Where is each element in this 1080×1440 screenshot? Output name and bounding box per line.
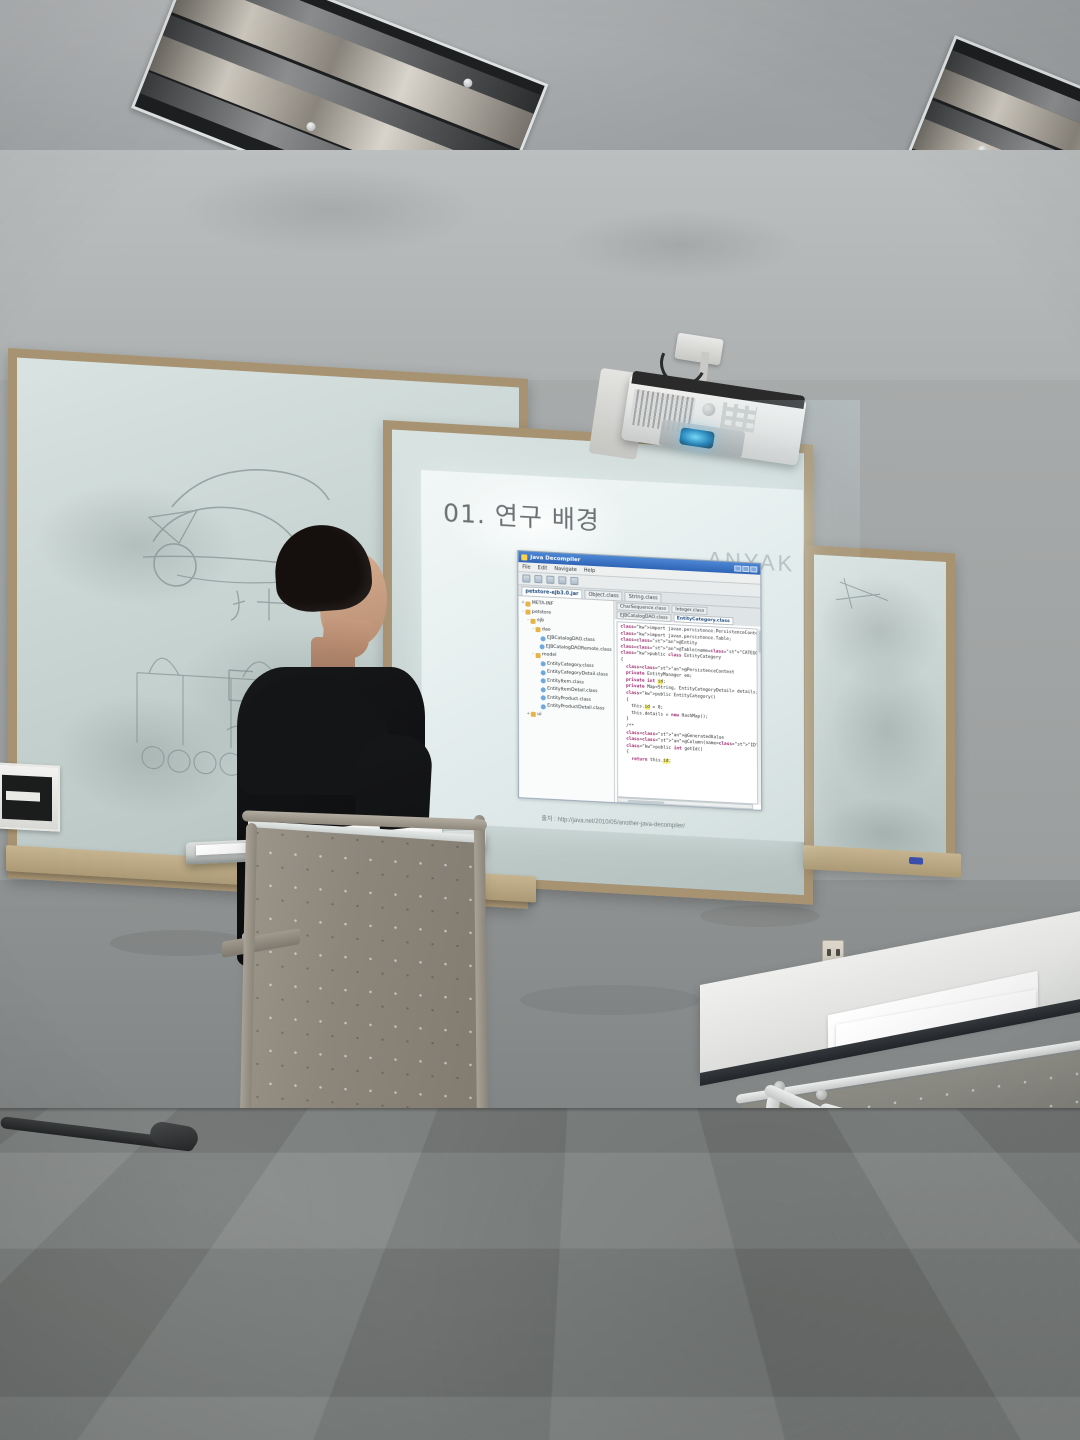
window-body: +META-INF-petstore-ejb-daoEJBCatalogDAO.…: [518, 596, 761, 810]
upper-wall-band: [0, 150, 1080, 380]
code-editor[interactable]: class="kw">import javax.persistence.Pers…: [616, 621, 758, 804]
wall-floor-junction: [0, 1108, 1080, 1112]
slide-source-citation: 출처 : http://java.net/2010/05/another-jav…: [541, 813, 684, 830]
package-folder-icon: [530, 618, 535, 623]
forward-icon: [558, 576, 566, 584]
class-file-icon: [541, 679, 546, 684]
floor-texture: [0, 1108, 1080, 1440]
menu-item-help[interactable]: Help: [584, 567, 595, 574]
tree-node-label: ui: [537, 711, 541, 720]
menu-item-edit[interactable]: Edit: [538, 565, 548, 572]
window-controls[interactable]: [734, 565, 757, 572]
code-tab[interactable]: EJBCatalogDAO.class: [616, 611, 671, 622]
floor: [0, 1108, 1080, 1440]
eraser-mark-sketch: [826, 569, 936, 645]
class-file-icon: [541, 636, 546, 641]
tree-node-label: model: [542, 651, 556, 660]
document-tab[interactable]: String.class: [625, 592, 662, 603]
classroom-photo: 01. 연구 배경 ANYAK Java Decompiler FileEdit…: [0, 0, 1080, 1440]
menu-item-file[interactable]: File: [522, 564, 530, 570]
jar-tree-panel[interactable]: +META-INF-petstore-ejb-daoEJBCatalogDAO.…: [518, 596, 615, 802]
refresh-icon: [534, 575, 542, 583]
class-file-icon: [541, 662, 546, 667]
package-folder-icon: [536, 627, 541, 632]
window-title: Java Decompiler: [530, 554, 580, 563]
whiteboard-right: [805, 545, 955, 873]
class-file-icon: [541, 696, 546, 701]
table-knob[interactable]: [816, 1089, 827, 1100]
slide-title: 01. 연구 배경: [443, 493, 600, 537]
wall-stain: [180, 165, 480, 255]
class-file-icon: [541, 704, 546, 709]
code-panel: CharSequence.classInteger.class EJBCatal…: [614, 601, 761, 810]
open-icon: [522, 574, 530, 582]
eraser-holder: [0, 762, 60, 831]
back-icon: [546, 576, 554, 584]
package-folder-icon: [531, 712, 536, 717]
wall-stain: [560, 210, 800, 280]
tree-node-label: dao: [542, 626, 551, 635]
lectern-front-panel: [250, 827, 480, 1153]
projected-slide: 01. 연구 배경 ANYAK Java Decompiler FileEdit…: [421, 470, 804, 842]
class-file-icon: [539, 644, 544, 649]
class-file-icon: [541, 687, 546, 692]
package-folder-icon: [536, 653, 541, 658]
app-icon: [521, 554, 527, 560]
package-folder-icon: [525, 601, 530, 606]
search-icon: [570, 577, 578, 585]
code-vertical-scrollbar[interactable]: [756, 629, 761, 805]
java-decompiler-window: Java Decompiler FileEditNavigateHelp pet…: [517, 550, 762, 811]
package-folder-icon: [525, 610, 530, 615]
menu-item-navigate[interactable]: Navigate: [554, 565, 576, 572]
class-file-icon: [541, 670, 546, 675]
hair: [272, 522, 374, 614]
tree-node-label: ejb: [537, 617, 544, 626]
